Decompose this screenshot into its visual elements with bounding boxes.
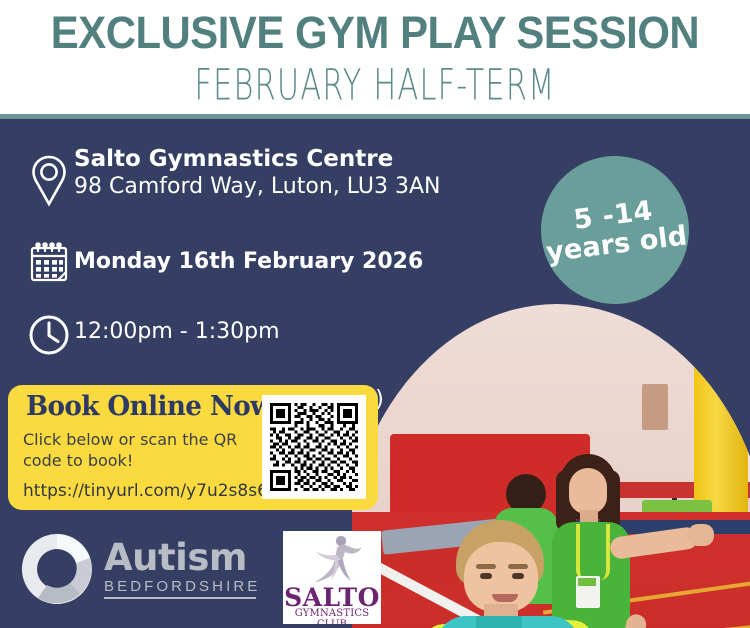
autism-logo-subtitle: BEDFORDSHIRE: [104, 577, 256, 599]
poster-root: 5 -14 years old EXCLUSIVE GYM PLAY SESSI…: [0, 0, 750, 628]
detail-row-date: Monday 16th February 2026: [24, 232, 504, 294]
polo-collar: [476, 616, 522, 628]
detail-row-time: 12:00pm - 1:30pm: [24, 308, 504, 362]
autism-ring-icon: [20, 532, 94, 606]
pillar-top-cap: [698, 304, 744, 320]
calendar-icon: [24, 232, 74, 294]
child-eyebrow: [508, 564, 528, 569]
coach-hand: [688, 524, 714, 546]
coach-face: [569, 468, 607, 514]
venue-text: Salto Gymnastics Centre 98 Camford Way, …: [74, 144, 441, 200]
child-eye: [512, 573, 524, 579]
page-title: EXCLUSIVE GYM PLAY SESSION: [26, 7, 724, 59]
date-text: Monday 16th February 2026: [74, 232, 423, 275]
booking-instructions: Click below or scan the QR code to book!: [23, 429, 258, 471]
child-figure: [412, 520, 632, 628]
qr-code[interactable]: [262, 395, 366, 499]
booking-box[interactable]: Book Online Now! Click below or scan the…: [8, 385, 378, 510]
venue-name: Salto Gymnastics Centre: [74, 146, 441, 173]
child-eyebrow: [476, 564, 496, 569]
venue-address: 98 Camford Way, Luton, LU3 3AN: [74, 173, 441, 200]
header-divider: [0, 114, 750, 119]
page-subtitle: FEBRUARY HALF-TERM: [75, 59, 675, 111]
header-band: EXCLUSIVE GYM PLAY SESSION FEBRUARY HALF…: [0, 0, 750, 114]
autism-bedfordshire-logo: Autism BEDFORDSHIRE: [20, 532, 270, 606]
booking-heading: Book Online Now!: [26, 391, 283, 422]
booking-url-link[interactable]: https://tinyurl.com/y7u2s8s6: [23, 481, 268, 501]
child-mouth: [492, 594, 518, 602]
time-text: 12:00pm - 1:30pm: [74, 308, 280, 345]
child-eye: [480, 573, 492, 579]
wall-panel: [642, 384, 668, 430]
location-pin-icon: [24, 144, 74, 218]
detail-row-venue: Salto Gymnastics Centre 98 Camford Way, …: [24, 144, 504, 218]
salto-gymnastics-club-logo: SALTO GYMNASTICS CLUB: [283, 531, 381, 624]
yellow-foam-pillar: [694, 314, 748, 514]
clock-icon: [24, 308, 74, 362]
autism-logo-name: Autism: [104, 539, 256, 577]
salto-logo-subtitle: GYMNASTICS CLUB: [283, 608, 381, 624]
autism-logo-text: Autism BEDFORDSHIRE: [104, 539, 256, 599]
gymnast-silhouette-icon: [297, 533, 367, 590]
age-range-line-2: years old: [545, 221, 689, 268]
